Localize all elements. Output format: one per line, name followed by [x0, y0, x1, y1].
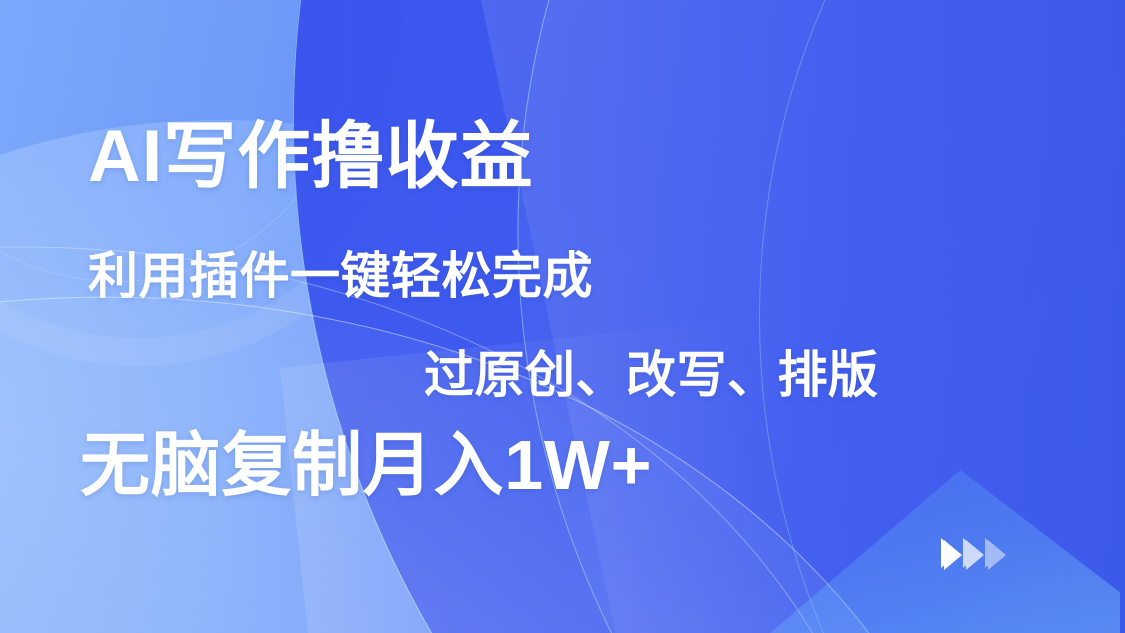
chevron-right-icon — [985, 538, 1002, 568]
promo-poster: AI写作撸收益 利用插件一键轻松完成 过原创、改写、排版 无脑复制月入1W+ — [0, 0, 1125, 633]
chevron-right-icon — [941, 538, 958, 568]
chevron-arrow-group — [941, 538, 1002, 568]
poster-highlight-text: 无脑复制月入1W+ — [80, 430, 652, 500]
poster-content: AI写作撸收益 利用插件一键轻松完成 过原创、改写、排版 无脑复制月入1W+ — [0, 0, 1125, 633]
poster-subheadline-primary: 利用插件一键轻松完成 — [88, 251, 593, 301]
chevron-right-icon — [963, 538, 980, 568]
poster-headline: AI写作撸收益 — [88, 120, 534, 193]
poster-subheadline-secondary: 过原创、改写、排版 — [424, 350, 879, 400]
